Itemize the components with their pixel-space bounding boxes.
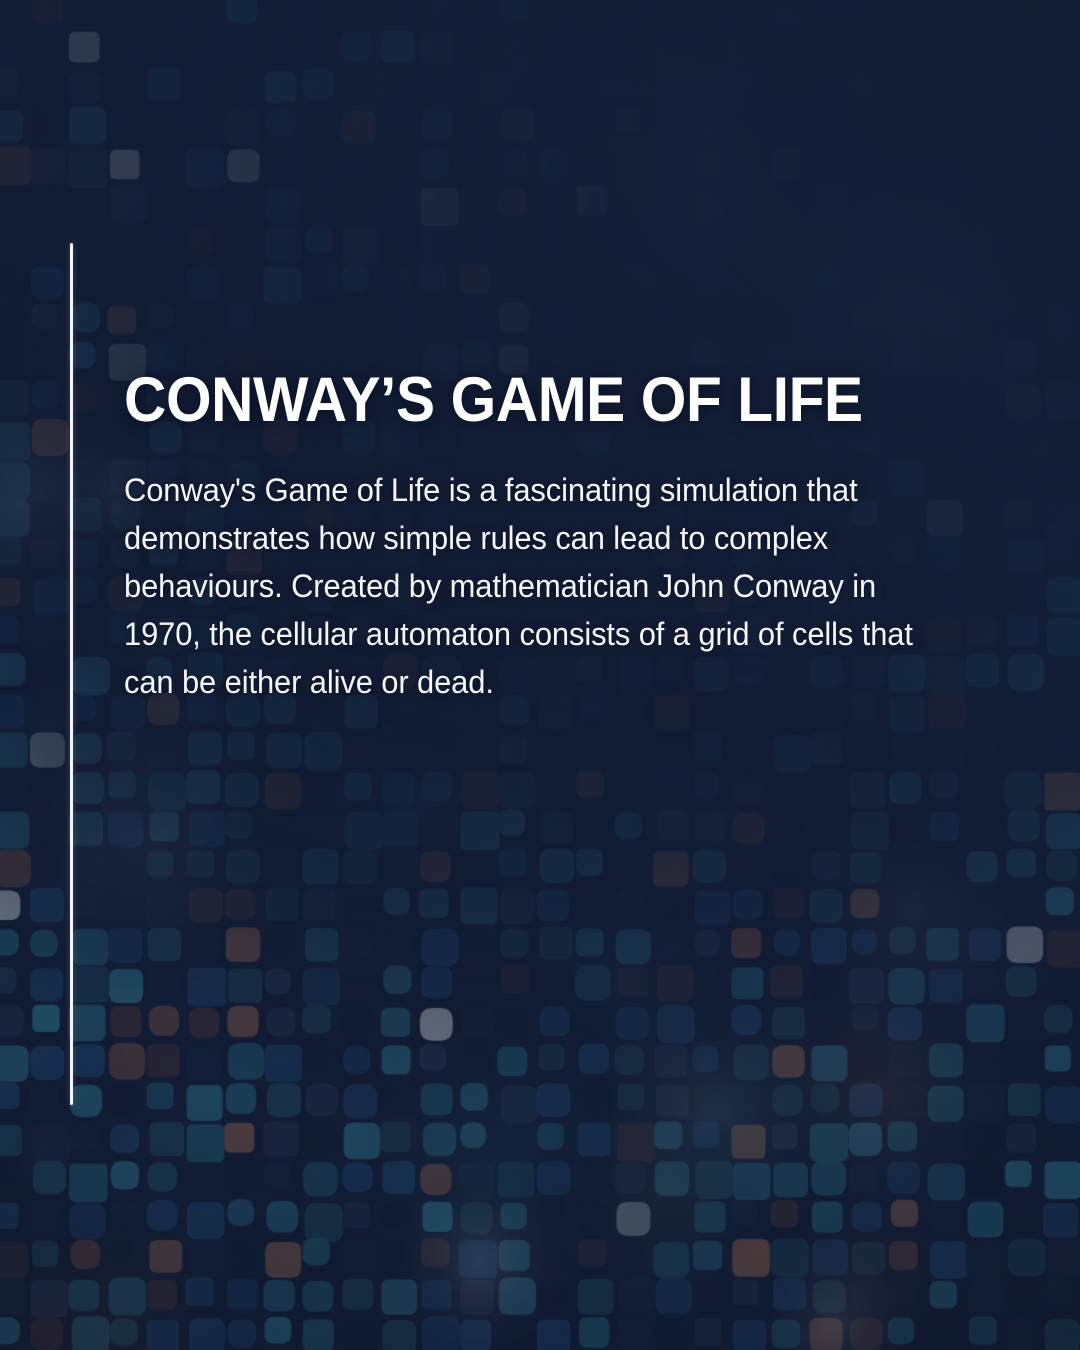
body-paragraph: Conway's Game of Life is a fascinating s… xyxy=(124,434,925,706)
vertical-accent-line xyxy=(70,243,73,1105)
slide-root: CONWAY’S GAME OF LIFE Conway's Game of L… xyxy=(0,0,1080,1350)
content-area: CONWAY’S GAME OF LIFE Conway's Game of L… xyxy=(0,0,1080,1350)
page-title: CONWAY’S GAME OF LIFE xyxy=(124,366,896,434)
text-block: CONWAY’S GAME OF LIFE Conway's Game of L… xyxy=(124,366,954,706)
